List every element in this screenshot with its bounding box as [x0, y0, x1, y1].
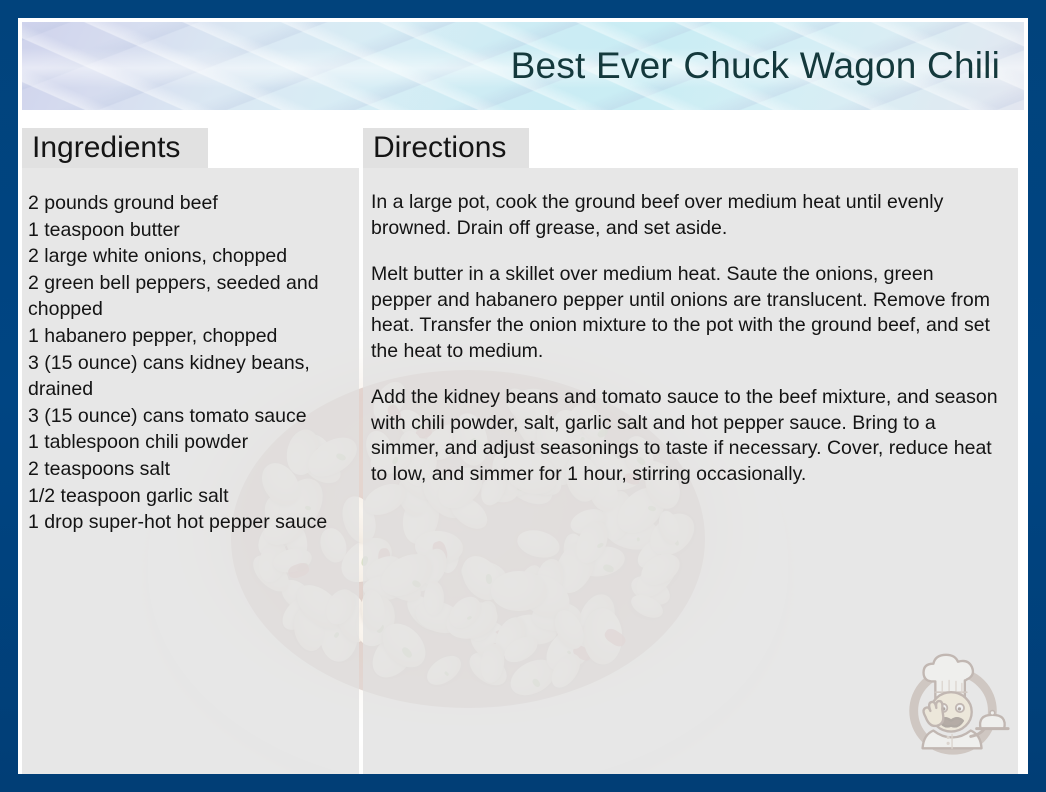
ingredients-heading-label: Ingredients	[32, 133, 180, 163]
ingredient-item: 2 teaspoons salt	[28, 456, 344, 483]
directions-heading-label: Directions	[373, 133, 506, 163]
chef-mascot-logo	[896, 646, 1014, 764]
ingredient-item: 2 pounds ground beef	[28, 190, 344, 217]
ingredient-item: 2 green bell peppers, seeded and chopped	[28, 270, 344, 323]
ingredient-item: 3 (15 ounce) cans tomato sauce	[28, 403, 344, 430]
directions-steps: In a large pot, cook the ground beef ove…	[363, 190, 1013, 487]
direction-step: Add the kidney beans and tomato sauce to…	[371, 385, 999, 487]
ingredient-item: 1 teaspoon butter	[28, 217, 344, 244]
ingredients-heading-tab: Ingredients	[22, 128, 208, 168]
ingredient-item: 1 drop super-hot hot pepper sauce	[28, 509, 344, 536]
ingredient-item: 1 tablespoon chili powder	[28, 429, 344, 456]
direction-step: In a large pot, cook the ground beef ove…	[371, 190, 999, 241]
recipe-card: Best Ever Chuck Wagon Chili Ingredients …	[0, 0, 1046, 792]
ingredient-item: 1 habanero pepper, chopped	[28, 323, 344, 350]
ingredient-item: 2 large white onions, chopped	[28, 243, 344, 270]
direction-step: Melt butter in a skillet over medium hea…	[371, 262, 999, 364]
card-inner-area: Best Ever Chuck Wagon Chili Ingredients …	[18, 18, 1028, 774]
page-title: Best Ever Chuck Wagon Chili	[511, 45, 1000, 87]
header-banner: Best Ever Chuck Wagon Chili	[22, 22, 1024, 110]
directions-heading-tab: Directions	[363, 128, 529, 168]
ingredients-list: 2 pounds ground beef1 teaspoon butter2 l…	[22, 190, 352, 536]
ingredient-item: 1/2 teaspoon garlic salt	[28, 483, 344, 510]
ingredient-item: 3 (15 ounce) cans kidney beans, drained	[28, 350, 344, 403]
